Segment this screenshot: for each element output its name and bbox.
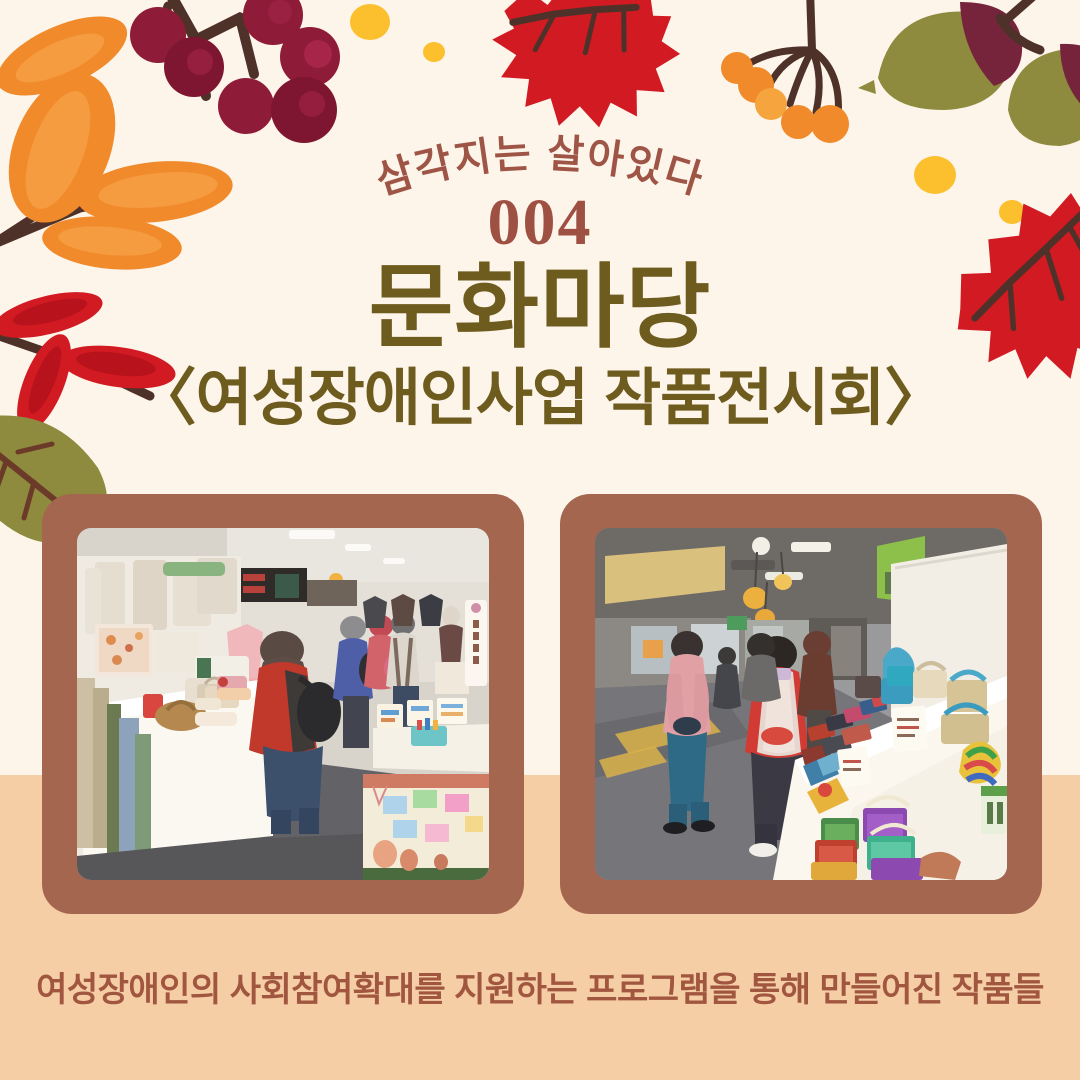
page-title: 문화마당 [0, 262, 1080, 354]
photo-craft-exhibition-right [595, 528, 1007, 880]
page-subtitle: 〈여성장애인사업 작품전시회〉 [0, 368, 1080, 430]
photo-frame-right [560, 494, 1042, 914]
poster-card: 삼각지는 살아있다 004 문화마당 〈여성장애인사업 작품전시회〉 [0, 0, 1080, 1080]
episode-number: 004 [0, 190, 1080, 256]
photo-frame-left [42, 494, 524, 914]
photo-craft-exhibition-left [77, 528, 489, 880]
footer-caption: 여성장애인의 사회참여확대를 지원하는 프로그램을 통해 만들어진 작품들 [0, 962, 1080, 1011]
